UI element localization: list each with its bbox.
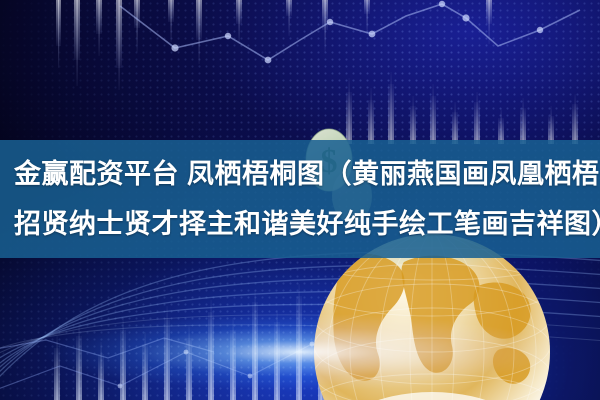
- title-line-1: 金赢配资平台 凤栖梧桐图（黄丽燕国画凤凰栖梧: [14, 149, 586, 199]
- title-band: 金赢配资平台 凤栖梧桐图（黄丽燕国画凤凰栖梧 招贤纳士贤才择主和谐美好纯手绘工笔…: [0, 140, 600, 258]
- banner-image: $: [0, 0, 600, 400]
- title-line-2: 招贤纳士贤才择主和谐美好纯手绘工笔画吉祥图）: [14, 199, 586, 249]
